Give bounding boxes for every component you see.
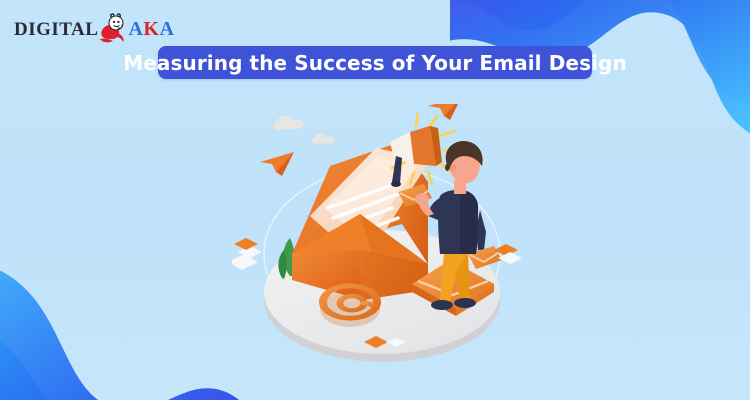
logo-word-digital: DIGITAL: [14, 20, 98, 39]
orange-paper-airplane: [260, 152, 294, 176]
logo-letter-a1: A: [128, 18, 143, 40]
blue-gradient-blob-bottom-left: [0, 230, 260, 400]
digital-aka-logo[interactable]: DIGITAL AKA: [14, 11, 174, 47]
email-design-hero-banner: DIGITAL AKA Measuring the Success of You…: [0, 0, 750, 400]
decor-diamond-mid-left: [232, 254, 258, 270]
cloud-shape: [312, 133, 334, 144]
email-marketing-isometric-illustration: [232, 104, 532, 364]
cloud-shape: [273, 116, 303, 130]
orange-paper-airplane: [428, 104, 462, 120]
logo-letter-a2: A: [159, 18, 174, 40]
logo-word-aka: AKA: [128, 19, 174, 39]
logo-letter-k: K: [143, 18, 159, 40]
decor-diamond-left: [234, 238, 262, 258]
page-title-pill: Measuring the Success of Your Email Desi…: [158, 46, 592, 79]
at-sign-3d: [320, 286, 380, 327]
page-title: Measuring the Success of Your Email Desi…: [123, 51, 627, 75]
red-devil-mascot-icon: [96, 12, 130, 46]
large-envelope: [292, 142, 430, 300]
